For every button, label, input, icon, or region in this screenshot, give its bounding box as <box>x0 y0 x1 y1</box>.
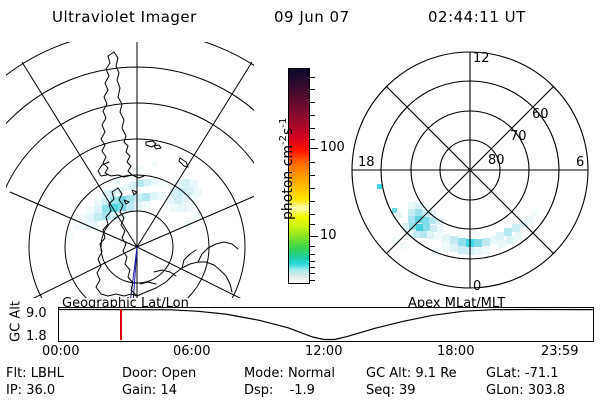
time-tick-1: 06:00 <box>173 344 210 359</box>
mlt-label-18: 18 <box>358 155 375 170</box>
header-bar: Ultraviolet Imager 09 Jun 07 02:44:11 UT <box>0 8 600 34</box>
instrument-title: Ultraviolet Imager <box>52 8 197 26</box>
status-ip-value: 36.0 <box>26 383 55 398</box>
colorbar-minor-tick <box>309 261 315 262</box>
status-mode-value: Normal <box>288 366 335 381</box>
status-dsp-label: Dsp: <box>244 383 273 398</box>
colorbar-minor-tick <box>309 89 315 90</box>
status-flt: Flt: LBHL <box>6 366 64 381</box>
colorbar-minor-tick <box>309 162 315 163</box>
status-seq-label: Seq: <box>366 383 395 398</box>
status-gain-label: Gain: <box>122 383 156 398</box>
colorbar-minor-tick <box>309 102 315 103</box>
status-gc-alt-value: 9.1 Re <box>415 366 456 381</box>
colorbar-exp-1: -2 <box>278 135 289 145</box>
status-door-value: Open <box>162 366 197 381</box>
geographic-map-panel[interactable] <box>6 42 254 298</box>
altitude-axis-name: GC Alt <box>9 298 24 346</box>
time-tick-3: 18:00 <box>437 344 474 359</box>
status-door-label: Door: <box>122 366 157 381</box>
colorbar-exp-2: -1 <box>278 118 289 128</box>
aurora-emission-magnetic <box>377 184 539 256</box>
colorbar-major-tick <box>309 148 318 149</box>
status-glat-value: -71.1 <box>525 366 559 381</box>
status-glon: GLon: 303.8 <box>486 383 565 398</box>
colorbar-minor-tick <box>309 139 315 140</box>
mlat-label-70: 70 <box>510 129 527 144</box>
time-tick-4: 23:59 <box>541 344 578 359</box>
status-ip-label: IP: <box>6 383 22 398</box>
colorbar-minor-tick <box>309 77 315 78</box>
colorbar-title-text: photon cm <box>280 145 296 220</box>
status-door: Door: Open <box>122 366 196 381</box>
mlt-spokes <box>352 52 588 288</box>
status-dsp: Dsp: -1.9 <box>244 383 315 398</box>
status-glat-label: GLat: <box>486 366 521 381</box>
colorbar-minor-tick <box>309 214 315 215</box>
colorbar-tick-label-1: 10 <box>320 229 337 242</box>
status-gain: Gain: 14 <box>122 383 177 398</box>
magnetic-dial-panel[interactable]: 12 6 0 18 60 70 80 <box>336 42 594 298</box>
mlat-label-80: 80 <box>488 153 505 168</box>
observation-date: 09 Jun 07 <box>274 8 350 26</box>
mlt-label-12: 12 <box>473 51 490 66</box>
time-tick-2: 12:00 <box>305 344 342 359</box>
colorbar-minor-tick <box>309 128 315 129</box>
status-flt-label: Flt: <box>6 366 27 381</box>
status-gc-alt: GC Alt: 9.1 Re <box>366 366 457 381</box>
colorbar-minor-tick <box>309 188 315 189</box>
colorbar-minor-tick <box>309 254 315 255</box>
altitude-trace <box>59 308 593 341</box>
colorbar-minor-tick <box>309 267 315 268</box>
mlt-label-6: 6 <box>576 155 584 170</box>
altitude-axis-min: 1.8 <box>26 329 47 344</box>
status-glon-label: GLon: <box>486 383 524 398</box>
altitude-axis-max: 9.0 <box>26 306 47 321</box>
status-glon-value: 303.8 <box>528 383 565 398</box>
colorbar-minor-tick <box>309 201 315 202</box>
uvi-summary-plot: Ultraviolet Imager 09 Jun 07 02:44:11 UT <box>0 0 600 400</box>
colorbar-minor-tick <box>309 280 315 281</box>
colorbar-legend: photon cm-2s-1 10010 <box>258 52 334 300</box>
status-flt-value: LBHL <box>31 366 64 381</box>
current-time-marker <box>120 309 122 340</box>
time-tick-0: 00:00 <box>42 344 79 359</box>
status-ip: IP: 36.0 <box>6 383 55 398</box>
status-mode: Mode: Normal <box>244 366 335 381</box>
status-seq-value: 39 <box>399 383 416 398</box>
colorbar-major-tick <box>309 236 318 237</box>
colorbar-unit-text: s <box>280 128 296 135</box>
colorbar-axis-title: photon cm-2s-1 <box>278 84 296 254</box>
status-gain-value: 14 <box>160 383 177 398</box>
status-seq: Seq: 39 <box>366 383 416 398</box>
colorbar-minor-tick <box>309 273 315 274</box>
colorbar-minor-tick <box>309 175 315 176</box>
orbit-altitude-plot[interactable] <box>58 307 594 342</box>
status-dsp-value: -1.9 <box>278 383 315 398</box>
status-gc-alt-label: GC Alt: <box>366 366 411 381</box>
colorbar-minor-tick <box>309 246 315 247</box>
observation-time: 02:44:11 UT <box>428 8 526 26</box>
colorbar-minor-tick <box>309 115 315 116</box>
mlat-label-60: 60 <box>532 107 549 122</box>
colorbar-minor-tick <box>309 224 315 225</box>
status-glat: GLat: -71.1 <box>486 366 559 381</box>
mlt-label-0: 0 <box>473 279 481 294</box>
status-mode-label: Mode: <box>244 366 284 381</box>
